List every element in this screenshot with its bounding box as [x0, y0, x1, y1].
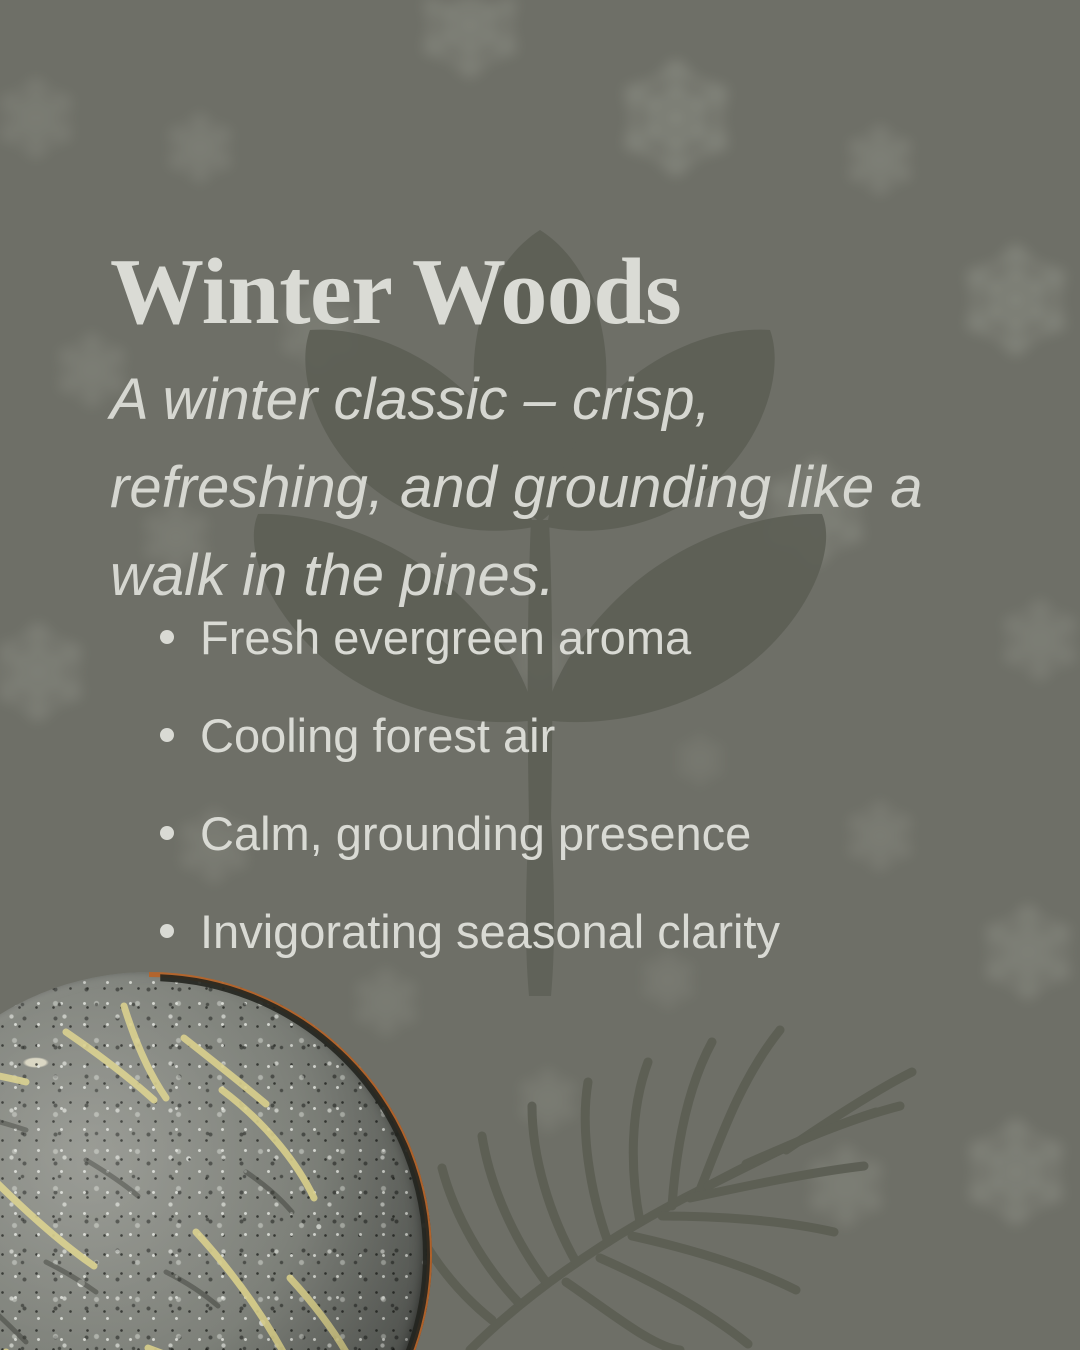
list-item-label: Cooling forest air — [200, 712, 555, 759]
winter-woods-promo-card: Winter Woods A winter classic – crisp, r… — [0, 0, 1080, 1350]
list-item: Cooling forest air — [160, 686, 780, 784]
list-item-label: Fresh evergreen aroma — [200, 614, 691, 661]
subtitle-description: A winter classic – crisp, refreshing, an… — [110, 356, 970, 620]
stone-disc-product-icon — [0, 972, 432, 1350]
bullet-dot-icon — [160, 826, 174, 840]
benefits-list: Fresh evergreen aroma Cooling forest air… — [160, 588, 780, 980]
list-item-label: Calm, grounding presence — [200, 810, 751, 857]
bullet-dot-icon — [160, 924, 174, 938]
bullet-dot-icon — [160, 728, 174, 742]
list-item: Calm, grounding presence — [160, 784, 780, 882]
page-title: Winter Woods — [110, 245, 681, 339]
list-item: Invigorating seasonal clarity — [160, 882, 780, 980]
list-item-label: Invigorating seasonal clarity — [200, 908, 780, 955]
bullet-dot-icon — [160, 630, 174, 644]
list-item: Fresh evergreen aroma — [160, 588, 780, 686]
